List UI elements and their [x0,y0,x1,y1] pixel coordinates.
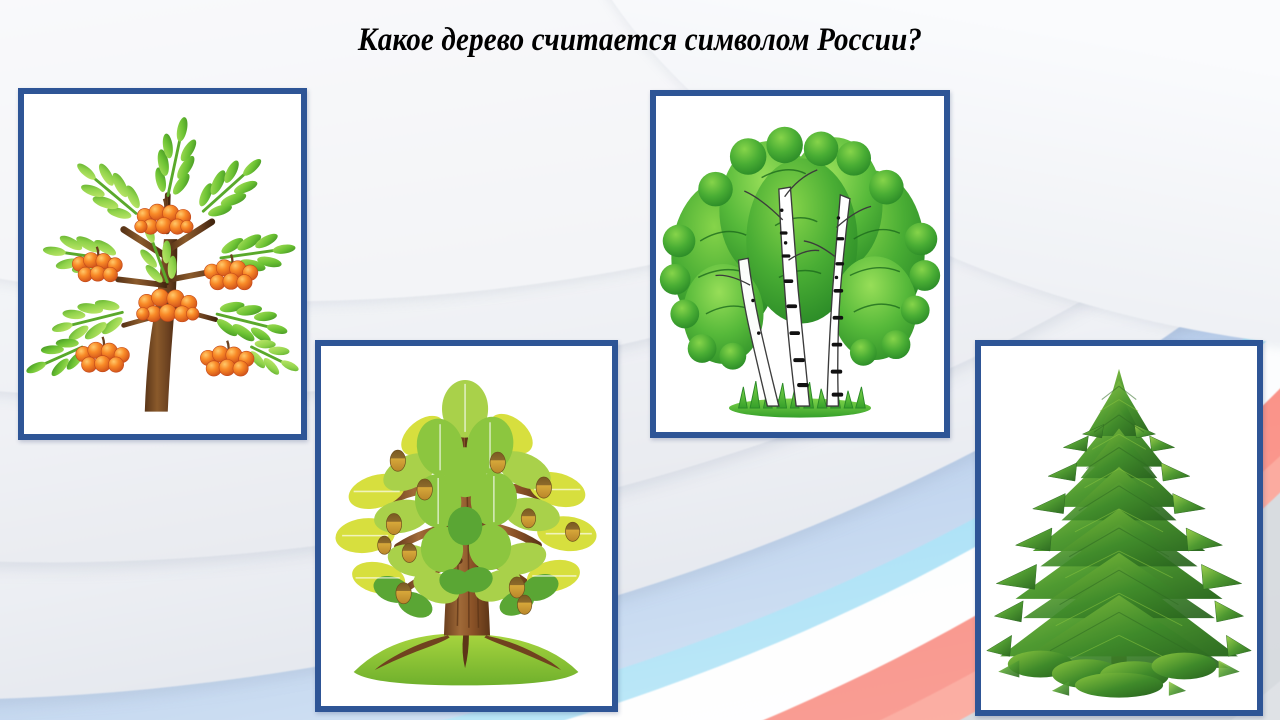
option-card-spruce[interactable] [975,340,1263,716]
quiz-slide: Какое дерево считается символом России? [0,0,1280,720]
oak-tree-illustration [321,346,612,706]
option-card-rowan[interactable] [18,88,307,440]
rowan-tree-illustration [24,94,301,434]
option-card-oak[interactable] [315,340,618,712]
spruce-tree-illustration [981,346,1257,710]
birch-tree-illustration [656,96,944,432]
spruce-foliage [987,369,1252,698]
option-card-birch[interactable] [650,90,950,438]
page-title: Какое дерево считается символом России? [77,22,1203,59]
